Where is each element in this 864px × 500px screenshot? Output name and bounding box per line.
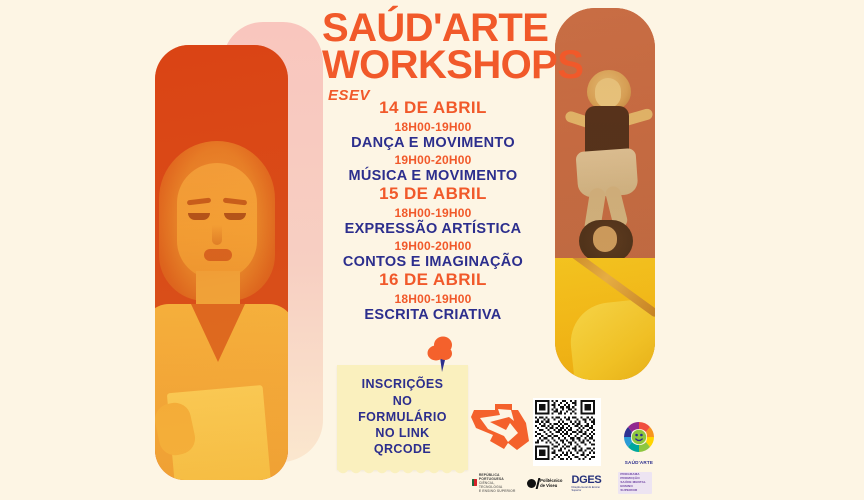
note-torn-edge <box>337 468 468 475</box>
pushpin-icon <box>424 336 458 372</box>
session-time: 18H00-19H00 <box>300 292 566 306</box>
schedule-date: 16 DE ABRIL <box>300 270 566 290</box>
saudarte-logo: SAÚD'ARTE <box>619 420 659 464</box>
schedule-date: 14 DE ABRIL <box>300 98 566 118</box>
note-line: QRCODE <box>374 442 431 457</box>
footer-logo-strip: REPÚBLICA PORTUGUESA CIÊNCIA, TECNOLOGIA… <box>472 470 652 496</box>
programa-line4: ENSINO SUPERIOR <box>620 485 650 493</box>
politecnico-viseu-logo: Politécnico de Viseu <box>527 478 562 489</box>
republica-portuguesa-logo: REPÚBLICA PORTUGUESA CIÊNCIA, TECNOLOGIA… <box>472 473 518 493</box>
session-time: 18H00-19H00 <box>300 120 566 134</box>
session-workshop: CONTOS E IMAGINAÇÃO <box>300 254 566 270</box>
saudarte-logo-caption: SAÚD'ARTE <box>619 460 659 465</box>
portugal-flag-icon <box>472 479 477 486</box>
poster-title-line1: SAÚD'ARTE <box>322 10 544 47</box>
qrcode-image[interactable] <box>533 398 601 466</box>
headline-block: SAÚD'ARTE WORKSHOPS ESEV <box>322 10 544 104</box>
poster-canvas: SAÚD'ARTE WORKSHOPS ESEV 14 DE ABRIL 18H… <box>0 0 864 500</box>
schedule-day: 15 DE ABRIL 18H00-19H00 EXPRESSÃO ARTÍST… <box>300 184 566 270</box>
dges-logo: DGES Direção-Geral do Ensino Superior <box>571 474 609 492</box>
politecnico-text: Politécnico de Viseu <box>540 478 562 488</box>
programa-text: PROGRAMA PROMOÇÃO SAÚDE MENTAL ENSINO SU… <box>620 473 650 492</box>
dges-sub: Direção-Geral do Ensino Superior <box>571 486 609 492</box>
poster-title-line2: WORKSHOPS <box>322 47 544 84</box>
note-line: FORMULÁRIO <box>358 410 447 425</box>
session-workshop: EXPRESSÃO ARTÍSTICA <box>300 221 566 237</box>
session-workshop: DANÇA E MOVIMENTO <box>300 135 566 151</box>
session-workshop: MÚSICA E MOVIMENTO <box>300 168 566 184</box>
arrow-icon <box>468 401 532 453</box>
left-portrait-photo <box>155 45 288 480</box>
republica-text: REPÚBLICA PORTUGUESA CIÊNCIA, TECNOLOGIA… <box>479 473 518 493</box>
left-duotone-overlay <box>155 45 288 480</box>
schedule-day: 14 DE ABRIL 18H00-19H00 DANÇA E MOVIMENT… <box>300 98 566 184</box>
note-line: INSCRIÇÕES <box>362 377 444 392</box>
session-time: 19H00-20H00 <box>300 153 566 167</box>
schedule-day: 16 DE ABRIL 18H00-19H00 ESCRITA CRIATIVA <box>300 270 566 323</box>
schedule-block: 14 DE ABRIL 18H00-19H00 DANÇA E MOVIMENT… <box>300 98 566 323</box>
republica-line4: E ENSINO SUPERIOR <box>479 489 518 493</box>
politecnico-dot-icon <box>527 479 536 488</box>
registration-note: INSCRIÇÕES NO FORMULÁRIO NO LINK QRCODE <box>337 365 468 470</box>
note-line: NO LINK <box>375 426 429 441</box>
schedule-date: 15 DE ABRIL <box>300 184 566 204</box>
note-line: NO <box>393 394 413 409</box>
dges-text: DGES Direção-Geral do Ensino Superior <box>571 474 609 492</box>
republica-line3: CIÊNCIA, TECNOLOGIA <box>479 481 518 489</box>
registration-note-text: INSCRIÇÕES NO FORMULÁRIO NO LINK QRCODE <box>337 365 468 470</box>
session-time: 18H00-19H00 <box>300 206 566 220</box>
politecnico-line2: de Viseu <box>540 483 562 488</box>
programa-promocao-logo: PROGRAMA PROMOÇÃO SAÚDE MENTAL ENSINO SU… <box>618 472 652 494</box>
dges-name: DGES <box>571 474 609 486</box>
session-workshop: ESCRITA CRIATIVA <box>300 307 566 323</box>
session-time: 19H00-20H00 <box>300 239 566 253</box>
